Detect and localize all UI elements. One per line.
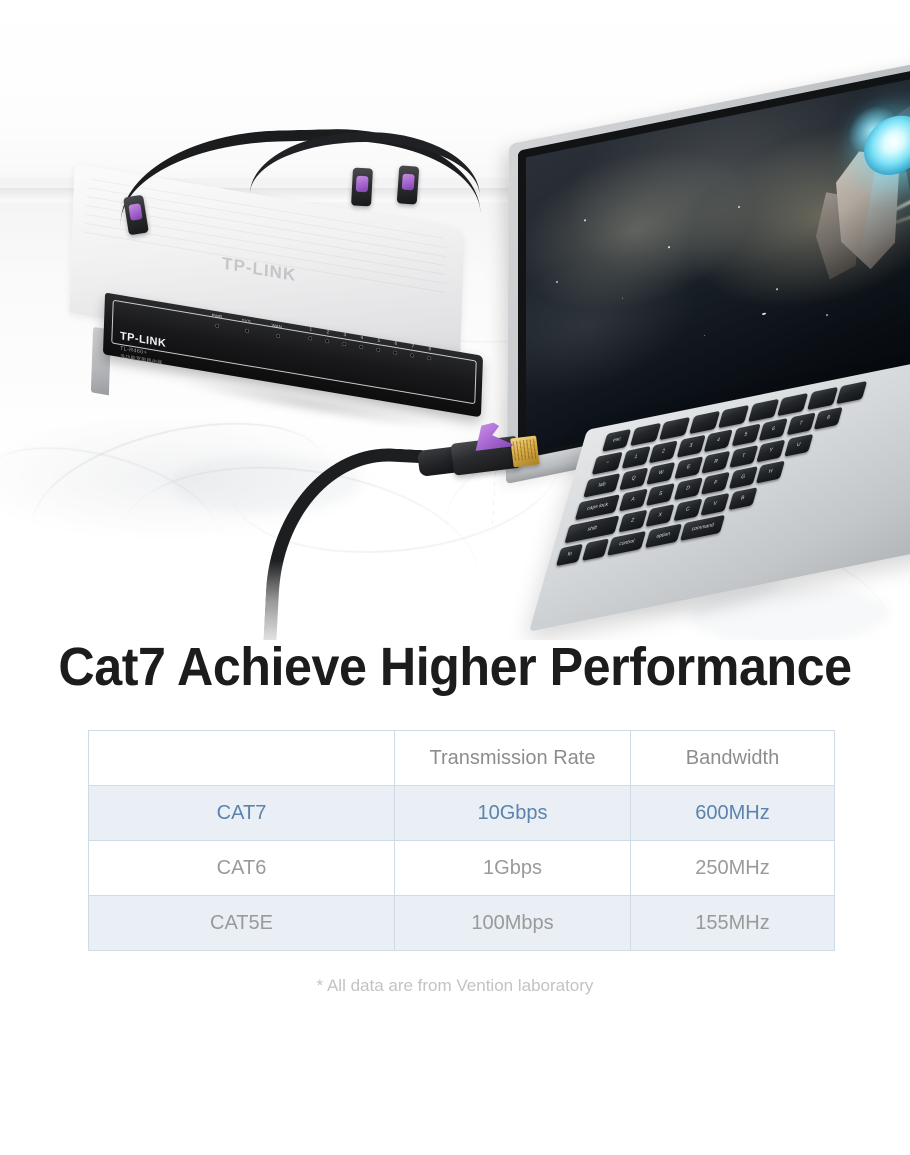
key-3: 3 — [676, 435, 705, 458]
cell-category: CAT7 — [89, 786, 395, 841]
key-tilde: ~ — [592, 452, 623, 475]
key-r: R — [701, 451, 730, 474]
key-command: command — [680, 515, 725, 541]
port-led-6 — [393, 350, 397, 355]
key-x: X — [645, 504, 674, 527]
key-w: W — [646, 462, 675, 485]
cell-category: CAT6 — [89, 841, 395, 896]
key-z: Z — [618, 510, 647, 533]
port-number-8: 8 — [429, 346, 432, 351]
product-photo: esc ~ 1 2 3 4 5 6 7 8 — [0, 0, 910, 640]
header-cell-bandwidth: Bandwidth — [631, 731, 835, 786]
port-led-4 — [359, 345, 363, 350]
led-dot-wan — [276, 334, 280, 339]
key-v: V — [700, 493, 729, 516]
port-led-7 — [410, 353, 414, 358]
header-cell-transmission-rate: Transmission Rate — [395, 731, 631, 786]
spacecraft — [812, 75, 910, 290]
cell-category: CAT5E — [89, 896, 395, 951]
key-d: D — [673, 477, 702, 500]
laptop: esc ~ 1 2 3 4 5 6 7 8 — [470, 100, 910, 560]
led-label-wan: WAN — [271, 323, 282, 330]
spec-table-wrapper: Transmission Rate Bandwidth CAT7 10Gbps … — [88, 730, 825, 951]
table-row: CAT5E 100Mbps 155MHz — [89, 896, 835, 951]
led-dot-pwr — [215, 323, 219, 328]
gold-contacts — [510, 435, 539, 467]
cable-fade-mask — [262, 560, 332, 640]
plug-clip — [356, 176, 369, 193]
table-header-row: Transmission Rate Bandwidth — [89, 731, 835, 786]
key-1: 1 — [621, 446, 650, 469]
cable-plug — [351, 168, 373, 207]
port-number-2: 2 — [327, 329, 330, 334]
key-7: 7 — [786, 412, 815, 435]
cell-bandwidth: 155MHz — [631, 896, 835, 951]
key-c: C — [673, 499, 702, 522]
key-f: F — [701, 472, 730, 495]
port-number-3: 3 — [344, 332, 347, 337]
cell-rate: 1Gbps — [395, 841, 631, 896]
port-led-3 — [342, 342, 346, 347]
port-led-5 — [376, 347, 380, 352]
key-b: B — [728, 487, 757, 510]
rj45-connector — [449, 418, 552, 489]
cell-rate: 100Mbps — [395, 896, 631, 951]
port-number-1: 1 — [310, 326, 313, 331]
table-row: CAT7 10Gbps 600MHz — [89, 786, 835, 841]
port-number-6: 6 — [395, 340, 398, 345]
key-4: 4 — [704, 429, 733, 452]
spec-table: Transmission Rate Bandwidth CAT7 10Gbps … — [88, 730, 835, 951]
key-g: G — [728, 466, 757, 489]
key-a: A — [618, 489, 647, 512]
key-option: option — [644, 524, 681, 549]
plug-clip — [128, 203, 142, 221]
cell-bandwidth: 250MHz — [631, 841, 835, 896]
key-t: T — [729, 445, 758, 468]
led-label-pwr: PWR — [211, 313, 222, 320]
port-led-1 — [308, 336, 312, 341]
led-dot-sys — [245, 328, 249, 333]
footnote: * All data are from Vention laboratory — [0, 976, 910, 996]
key-8: 8 — [814, 407, 843, 430]
key-ctrl-left — [581, 539, 608, 562]
cable-plug — [397, 165, 420, 204]
cell-rate: 10Gbps — [395, 786, 631, 841]
key-e: E — [674, 456, 703, 479]
key-control: control — [607, 531, 646, 556]
port-led-2 — [325, 339, 329, 344]
header-cell-blank — [89, 731, 395, 786]
key-u: U — [784, 434, 813, 457]
port-led-8 — [427, 356, 431, 361]
key-y: Y — [756, 440, 785, 463]
key-6: 6 — [759, 418, 788, 441]
key-h: H — [756, 461, 785, 484]
port-number-7: 7 — [412, 343, 415, 348]
key-5: 5 — [731, 424, 760, 447]
cell-bandwidth: 600MHz — [631, 786, 835, 841]
key-q: Q — [619, 468, 648, 491]
marble-blotch — [690, 585, 890, 640]
page-title: Cat7 Achieve Higher Performance — [32, 636, 878, 698]
port-number-4: 4 — [361, 335, 364, 340]
led-label-sys: SYS — [241, 318, 250, 325]
table-row: CAT6 1Gbps 250MHz — [89, 841, 835, 896]
spec-table-body: Transmission Rate Bandwidth CAT7 10Gbps … — [89, 731, 835, 951]
key-2: 2 — [649, 440, 678, 463]
port-number-5: 5 — [378, 338, 381, 343]
key-s: S — [646, 483, 675, 506]
plug-clip — [402, 174, 415, 191]
key-tab: tab — [583, 473, 620, 498]
